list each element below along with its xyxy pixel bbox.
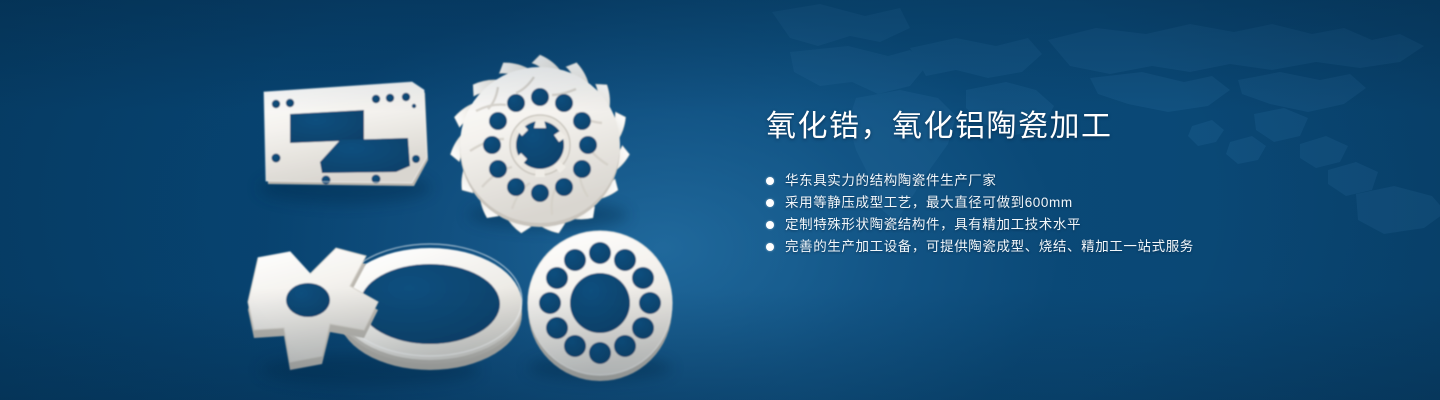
list-item-label: 华东具实力的结构陶瓷件生产厂家: [785, 170, 997, 192]
promo-banner: 氧化锆，氧化铝陶瓷加工 华东具实力的结构陶瓷件生产厂家 采用等静压成型工艺，最大…: [0, 0, 1440, 400]
bullet-dot-icon: [766, 221, 774, 229]
list-item: 完善的生产加工设备，可提供陶瓷成型、烧结、精加工一站式服务: [766, 236, 1386, 258]
bullet-dot-icon: [766, 243, 774, 251]
bullet-dot-icon: [766, 177, 774, 185]
list-item-label: 定制特殊形状陶瓷结构件，具有精加工技术水平: [785, 214, 1081, 236]
list-item: 华东具实力的结构陶瓷件生产厂家: [766, 170, 1386, 192]
banner-text-block: 氧化锆，氧化铝陶瓷加工 华东具实力的结构陶瓷件生产厂家 采用等静压成型工艺，最大…: [766, 108, 1386, 258]
list-item: 采用等静压成型工艺，最大直径可做到600mm: [766, 192, 1386, 214]
bullet-dot-icon: [766, 199, 774, 207]
list-item: 定制特殊形状陶瓷结构件，具有精加工技术水平: [766, 214, 1386, 236]
banner-feature-list: 华东具实力的结构陶瓷件生产厂家 采用等静压成型工艺，最大直径可做到600mm 定…: [766, 170, 1386, 258]
banner-headline: 氧化锆，氧化铝陶瓷加工: [766, 108, 1386, 146]
list-item-label: 采用等静压成型工艺，最大直径可做到600mm: [785, 192, 1073, 214]
list-item-label: 完善的生产加工设备，可提供陶瓷成型、烧结、精加工一站式服务: [785, 236, 1194, 258]
